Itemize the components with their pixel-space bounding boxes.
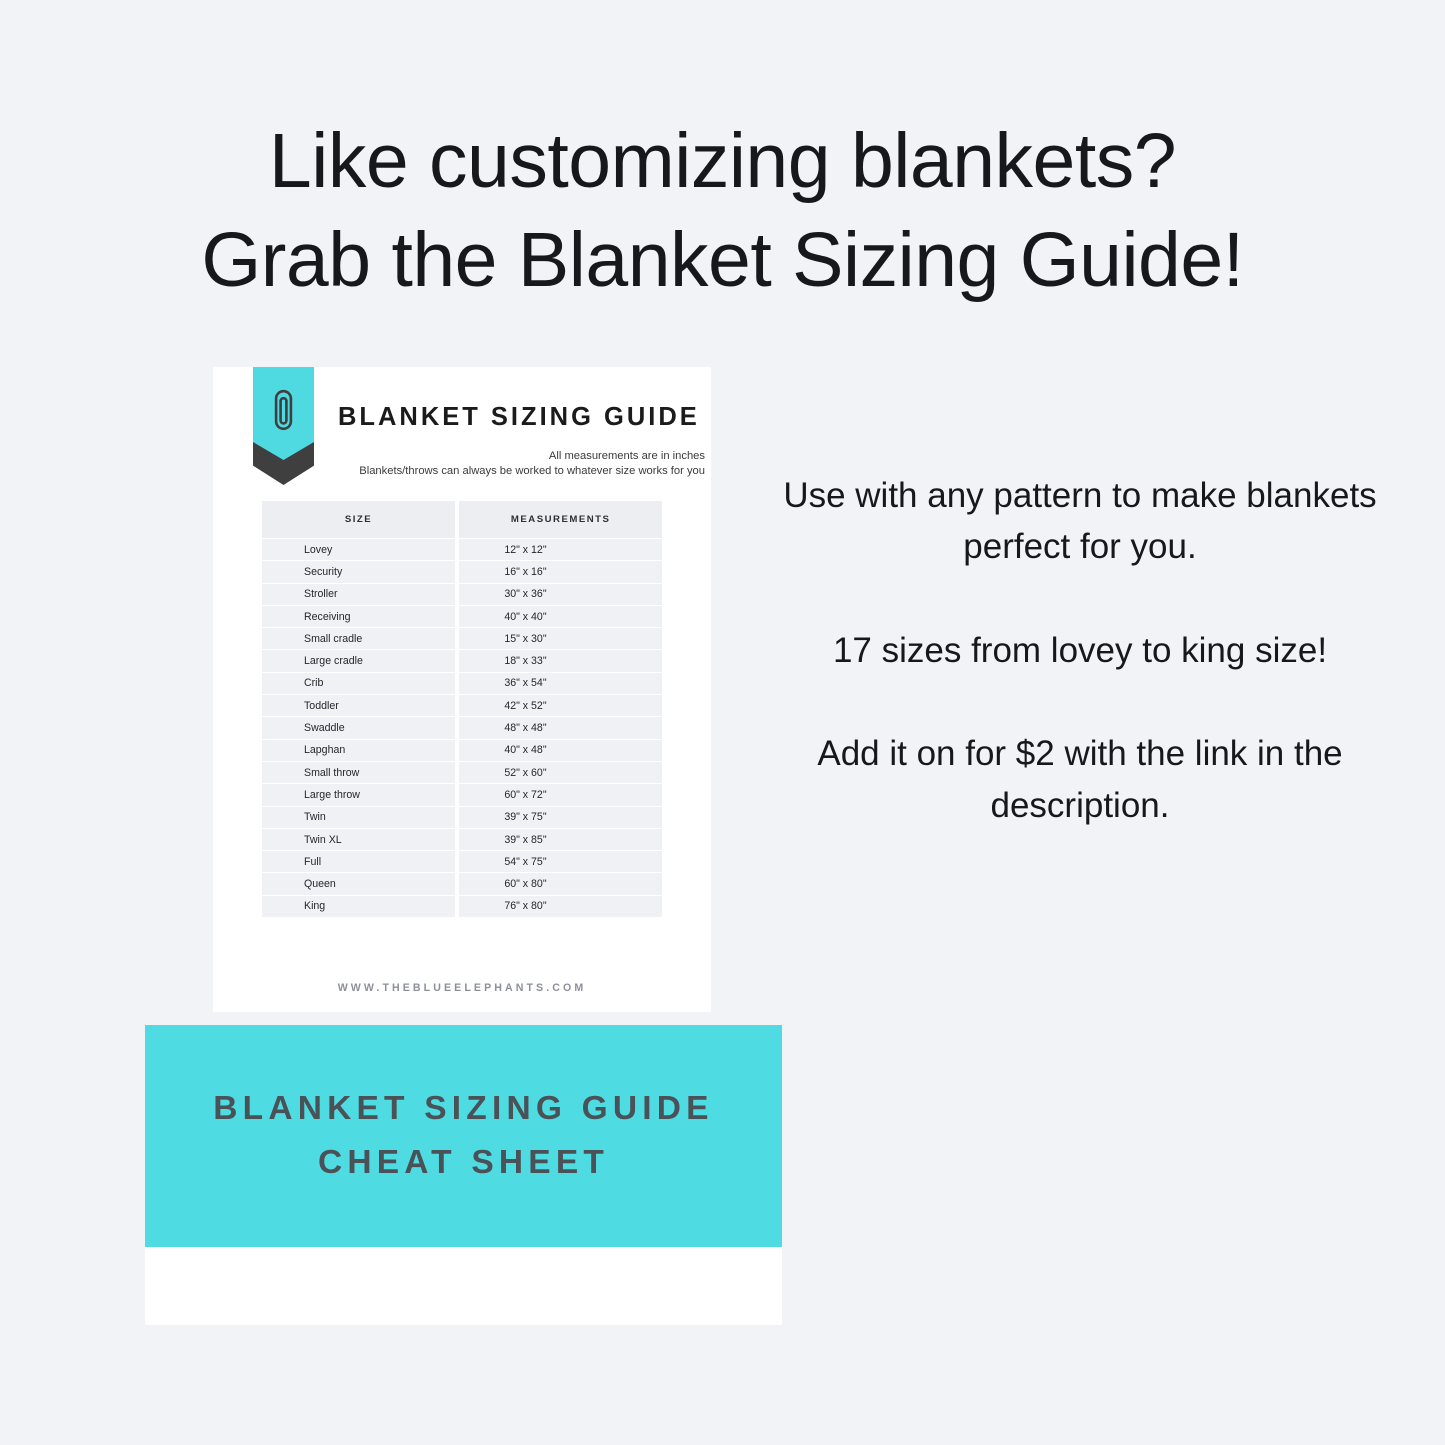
table-header-row: SIZE MEASUREMENTS bbox=[262, 501, 662, 538]
cell-measurement: 39" x 85" bbox=[459, 829, 662, 850]
table-row: Lapghan40" x 48" bbox=[262, 740, 662, 761]
cell-size: Twin XL bbox=[262, 829, 455, 850]
cell-size: Swaddle bbox=[262, 717, 455, 738]
cell-size: King bbox=[262, 896, 455, 917]
table-row: Queen60" x 80" bbox=[262, 873, 662, 894]
cell-size: Lovey bbox=[262, 539, 455, 560]
table-row: Large cradle18" x 33" bbox=[262, 650, 662, 671]
cell-size: Large cradle bbox=[262, 650, 455, 671]
cheat-sheet-banner: BLANKET SIZING GUIDE CHEAT SHEET bbox=[145, 1025, 782, 1247]
table-row: Large throw60" x 72" bbox=[262, 784, 662, 805]
cell-size: Small throw bbox=[262, 762, 455, 783]
column-header-measurements: MEASUREMENTS bbox=[459, 501, 662, 538]
cheat-sheet-title: BLANKET SIZING GUIDE CHEAT SHEET bbox=[213, 1082, 713, 1191]
document-subtitle: All measurements are in inches Blankets/… bbox=[273, 449, 705, 479]
sizing-table-body: Lovey12" x 12" Security16" x 16" Strolle… bbox=[262, 539, 662, 917]
cell-measurement: 18" x 33" bbox=[459, 650, 662, 671]
cell-size: Full bbox=[262, 851, 455, 872]
cell-measurement: 76" x 80" bbox=[459, 896, 662, 917]
cell-measurement: 52" x 60" bbox=[459, 762, 662, 783]
table-row: Swaddle48" x 48" bbox=[262, 717, 662, 738]
cell-measurement: 15" x 30" bbox=[459, 628, 662, 649]
paperclip-icon bbox=[269, 389, 298, 431]
table-row: Receiving40" x 40" bbox=[262, 606, 662, 627]
cell-size: Receiving bbox=[262, 606, 455, 627]
cell-measurement: 60" x 72" bbox=[459, 784, 662, 805]
table-row: Twin XL39" x 85" bbox=[262, 829, 662, 850]
cell-size: Small cradle bbox=[262, 628, 455, 649]
cell-measurement: 40" x 48" bbox=[459, 740, 662, 761]
copy-spacer bbox=[783, 676, 1377, 728]
column-header-size: SIZE bbox=[262, 501, 455, 538]
cheat-sheet-card[interactable]: BLANKET SIZING GUIDE CHEAT SHEET bbox=[145, 1025, 782, 1325]
sizing-table: SIZE MEASUREMENTS Lovey12" x 12" Securit… bbox=[262, 500, 662, 918]
copy-paragraph-3: Add it on for $2 with the link in the de… bbox=[783, 728, 1377, 831]
cell-size: Queen bbox=[262, 873, 455, 894]
cell-measurement: 40" x 40" bbox=[459, 606, 662, 627]
copy-spacer bbox=[783, 573, 1377, 625]
cell-size: Stroller bbox=[262, 584, 455, 605]
blanket-sizing-guide-preview[interactable]: BLANKET SIZING GUIDE All measurements ar… bbox=[213, 367, 711, 1012]
cell-size: Crib bbox=[262, 673, 455, 694]
table-row: Small throw52" x 60" bbox=[262, 762, 662, 783]
copy-paragraph-2: 17 sizes from lovey to king size! bbox=[783, 625, 1377, 676]
table-row: Twin39" x 75" bbox=[262, 807, 662, 828]
cell-size: Security bbox=[262, 561, 455, 582]
marketing-copy: Use with any pattern to make blankets pe… bbox=[783, 470, 1377, 831]
cell-size: Lapghan bbox=[262, 740, 455, 761]
document-title: BLANKET SIZING GUIDE bbox=[338, 405, 703, 431]
cell-measurement: 48" x 48" bbox=[459, 717, 662, 738]
table-row: Toddler42" x 52" bbox=[262, 695, 662, 716]
table-row: Lovey12" x 12" bbox=[262, 539, 662, 560]
page-title: Like customizing blankets? Grab the Blan… bbox=[0, 112, 1445, 311]
table-row: Crib36" x 54" bbox=[262, 673, 662, 694]
table-row: King76" x 80" bbox=[262, 896, 662, 917]
cell-measurement: 54" x 75" bbox=[459, 851, 662, 872]
table-row: Full54" x 75" bbox=[262, 851, 662, 872]
table-row: Stroller30" x 36" bbox=[262, 584, 662, 605]
table-row: Small cradle15" x 30" bbox=[262, 628, 662, 649]
cell-measurement: 60" x 80" bbox=[459, 873, 662, 894]
cell-measurement: 36" x 54" bbox=[459, 673, 662, 694]
cell-measurement: 30" x 36" bbox=[459, 584, 662, 605]
cell-measurement: 16" x 16" bbox=[459, 561, 662, 582]
table-row: Security16" x 16" bbox=[262, 561, 662, 582]
cell-measurement: 39" x 75" bbox=[459, 807, 662, 828]
copy-paragraph-1: Use with any pattern to make blankets pe… bbox=[783, 470, 1377, 573]
cell-size: Twin bbox=[262, 807, 455, 828]
cell-size: Large throw bbox=[262, 784, 455, 805]
cell-measurement: 12" x 12" bbox=[459, 539, 662, 560]
cell-size: Toddler bbox=[262, 695, 455, 716]
cell-measurement: 42" x 52" bbox=[459, 695, 662, 716]
website-url: WWW.THEBLUEELEPHANTS.COM bbox=[213, 982, 711, 994]
